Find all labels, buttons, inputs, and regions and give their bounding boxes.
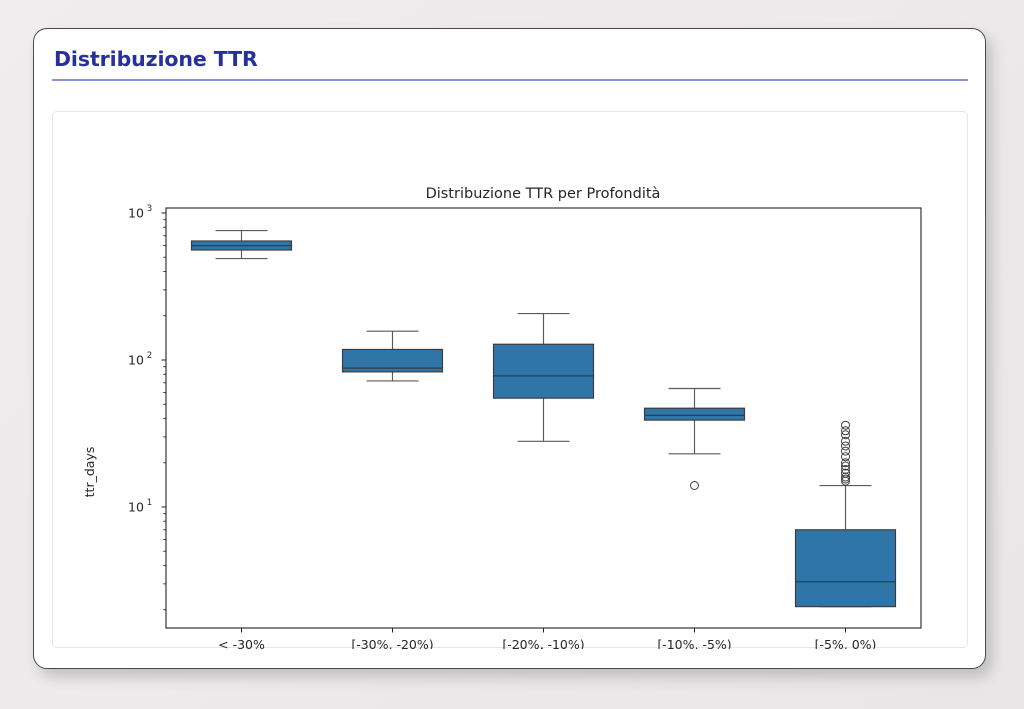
x-tick-label: [-30%, -20%) bbox=[351, 637, 433, 649]
y-axis-label: ttr_days bbox=[82, 447, 97, 498]
x-axis-ticks: < -30%[-30%, -20%)[-20%, -10%)[-10%, -5%… bbox=[218, 628, 876, 649]
page-background: Distribuzione TTR Distribuzione TTR per … bbox=[0, 0, 1024, 709]
x-tick-label: < -30% bbox=[218, 637, 265, 649]
y-tick-label: 10 bbox=[128, 500, 144, 515]
report-card: Distribuzione TTR Distribuzione TTR per … bbox=[33, 28, 986, 669]
chart-title: Distribuzione TTR per Profondità bbox=[426, 186, 661, 202]
plot-container: Distribuzione TTR per Profondità ttr_day… bbox=[52, 111, 968, 648]
x-tick-label: [-10%, -5%) bbox=[657, 637, 731, 649]
section-title: Distribuzione TTR bbox=[54, 47, 258, 71]
boxplot-box bbox=[494, 314, 594, 442]
x-tick-label: [-5%, 0%) bbox=[815, 637, 877, 649]
y-tick-exponent: 2 bbox=[147, 351, 152, 361]
title-divider bbox=[52, 79, 968, 81]
boxplot-figure: Distribuzione TTR per Profondità ttr_day… bbox=[53, 112, 969, 649]
outlier-point bbox=[842, 475, 850, 483]
boxplot-box bbox=[796, 421, 896, 606]
y-tick-label: 10 bbox=[128, 353, 144, 368]
y-tick-label: 10 bbox=[128, 206, 144, 221]
outlier-point bbox=[691, 482, 699, 490]
y-axis-ticks: 103102101 bbox=[128, 204, 166, 610]
boxplot-box bbox=[192, 231, 292, 259]
boxplot-box bbox=[645, 388, 745, 489]
boxplot-series bbox=[192, 231, 896, 607]
y-tick-exponent: 3 bbox=[147, 204, 152, 214]
y-tick-exponent: 1 bbox=[147, 498, 152, 508]
x-tick-label: [-20%, -10%) bbox=[502, 637, 584, 649]
boxplot-box bbox=[343, 331, 443, 381]
boxplot-chart: Distribuzione TTR per Profondità ttr_day… bbox=[53, 112, 969, 649]
